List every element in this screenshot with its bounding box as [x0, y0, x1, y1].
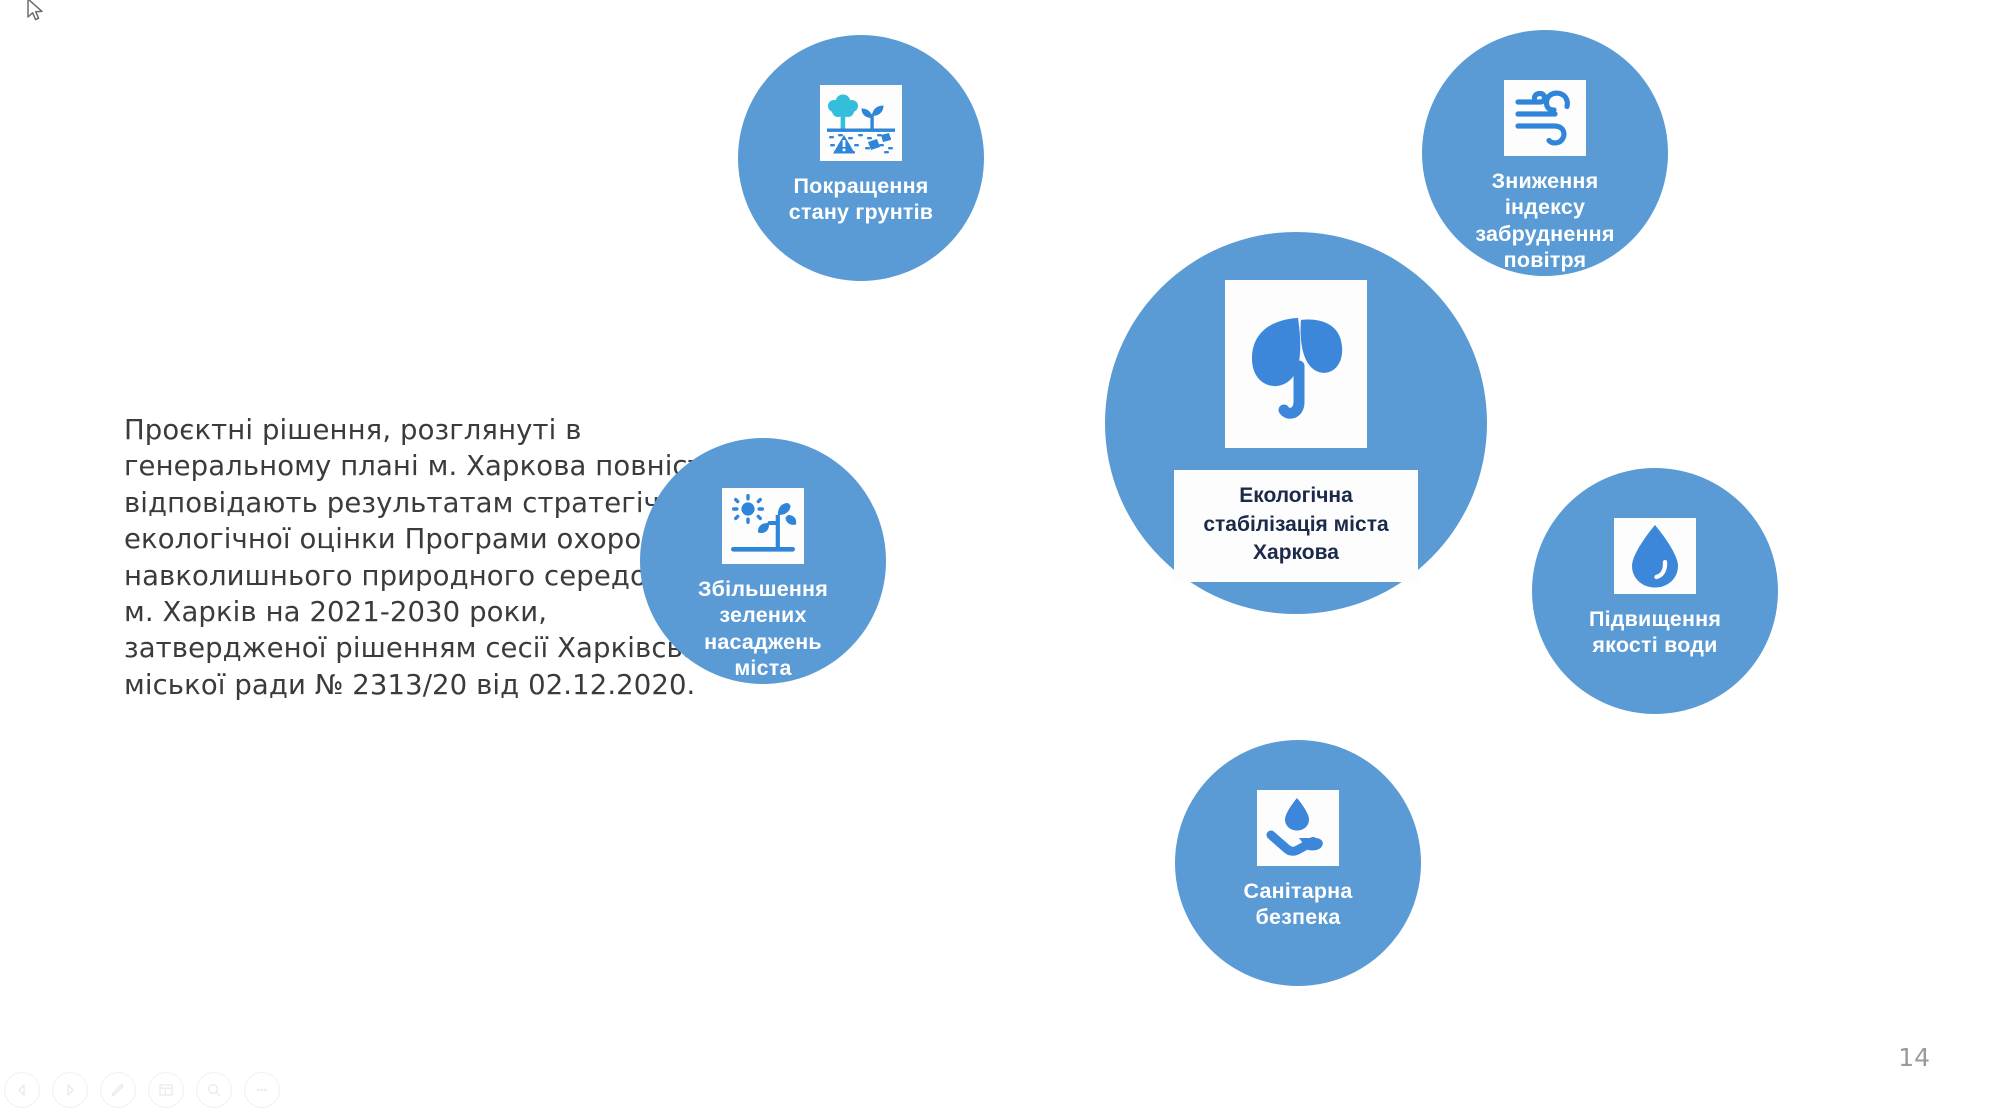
- pen-icon[interactable]: [100, 1072, 136, 1108]
- previous-slide-icon[interactable]: [4, 1072, 40, 1108]
- diagram-node-water[interactable]: Підвищення якості води: [1532, 468, 1778, 714]
- diagram-node-air-label: Зниження індексу забруднення повітря: [1438, 168, 1653, 274]
- diagram-node-water-label: Підвищення якості води: [1548, 606, 1763, 659]
- diagram-hub[interactable]: Екологічна стабілізація міста Харкова: [1105, 232, 1487, 614]
- diagram-node-green[interactable]: Збільшення зелених насаджень міста: [640, 438, 886, 684]
- wind-icon: [1504, 80, 1586, 156]
- more-options-icon[interactable]: [244, 1072, 280, 1108]
- presentation-toolbar: [0, 1072, 280, 1110]
- page-number: 14: [1898, 1043, 1930, 1072]
- diagram-node-soil-label: Покращення стану грунтів: [754, 173, 969, 226]
- diagram-node-air[interactable]: Зниження індексу забруднення повітря: [1422, 30, 1668, 276]
- soil-quality-icon: [820, 85, 902, 161]
- diagram-hub-label: Екологічна стабілізація міста Харкова: [1174, 470, 1418, 582]
- mouse-cursor: [26, 0, 48, 31]
- next-slide-icon[interactable]: [52, 1072, 88, 1108]
- diagram-node-sanitary-label: Санітарна безпека: [1191, 878, 1406, 931]
- hand-washing-icon: [1257, 790, 1339, 866]
- sun-sapling-icon: [722, 488, 804, 564]
- diagram-node-soil[interactable]: Покращення стану грунтів: [738, 35, 984, 281]
- seedling-icon: [1225, 280, 1367, 448]
- radial-diagram: Покращення стану грунтів Зниження індекс…: [760, 0, 2000, 1110]
- diagram-node-green-label: Збільшення зелених насаджень міста: [656, 576, 871, 682]
- slide-grid-icon[interactable]: [148, 1072, 184, 1108]
- diagram-node-sanitary[interactable]: Санітарна безпека: [1175, 740, 1421, 986]
- magnifier-icon[interactable]: [196, 1072, 232, 1108]
- water-drop-icon: [1614, 518, 1696, 594]
